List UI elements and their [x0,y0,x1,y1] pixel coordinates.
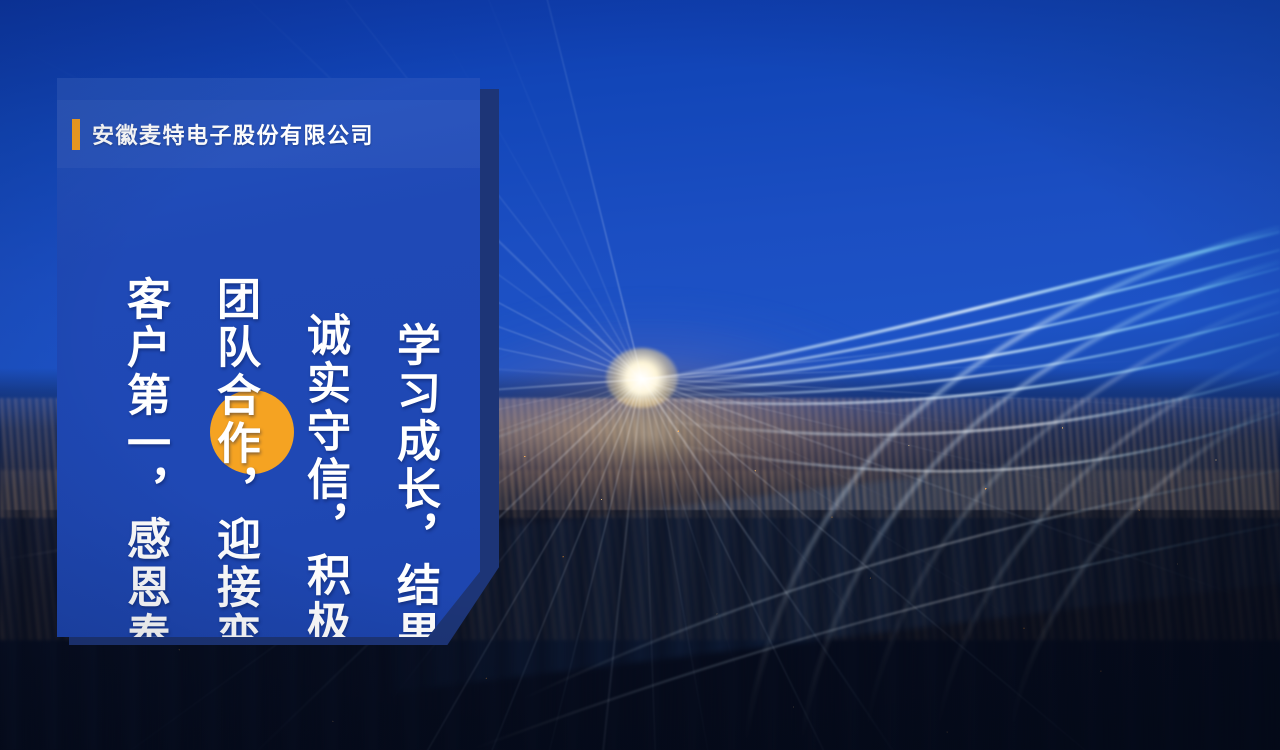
light-ray [474,0,643,379]
slogan-column-2: 团队合作，迎接变化 [210,276,258,637]
light-ray [642,336,1040,380]
slogan-columns: 客户第一，感恩奉献 团队合作，迎接变化 诚实守信，积极向上 学习成长，结果为王 [57,196,480,637]
light-ray [641,378,913,750]
light-ray [564,379,643,750]
light-ray [642,378,1280,415]
orange-accent-bar [72,119,80,150]
company-title: 安徽麦特电子股份有限公司 [92,118,374,150]
light-ray [641,378,742,687]
banner-stage: 安徽麦特电子股份有限公司 客户第一，感恩奉献 团队合作，迎接变化 诚实守信，积极… [0,0,1280,750]
light-ray [534,379,642,750]
panel-header: 安徽麦特电子股份有限公司 [57,100,480,168]
culture-panel: 安徽麦特电子股份有限公司 客户第一，感恩奉献 团队合作，迎接变化 诚实守信，积极… [57,78,480,637]
slogan-column-4: 学习成长，结果为王 [390,322,438,637]
slogan-column-3: 诚实守信，积极向上 [300,312,348,637]
slogan-column-1: 客户第一，感恩奉献 [120,276,168,637]
light-ray [642,378,1130,750]
